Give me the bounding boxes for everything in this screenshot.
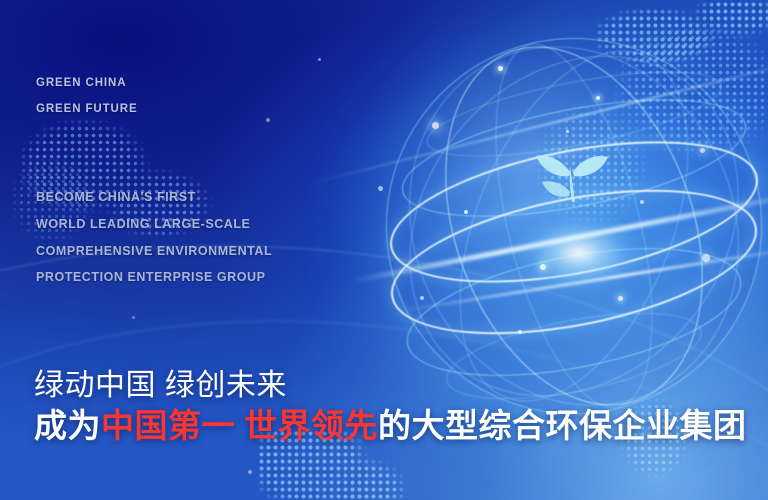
sprout-icon [526, 142, 622, 246]
sparkle-particle [420, 296, 424, 300]
sparkle-particle [464, 210, 468, 214]
mission-line-2: WORLD LEADING LARGE-SCALE [36, 211, 272, 238]
headline-highlight-a: 中国第一 [101, 407, 235, 444]
sparkle-particle [596, 96, 600, 100]
globe-outline [386, 38, 762, 414]
headline-prefix: 成为 [34, 407, 101, 444]
tagline-line-2: GREEN FUTURE [36, 96, 138, 122]
sparkle-particle [700, 148, 705, 153]
sparkle-particle [498, 66, 503, 71]
globe-latitude-ring-2 [393, 77, 755, 240]
headline-line-2: 成为中国第一世界领先的大型综合环保企业集团 [34, 406, 747, 446]
sparkle-particle [702, 254, 710, 262]
sparkle-particle [518, 330, 522, 334]
mission-line-4: PROTECTION ENTERPRISE GROUP [36, 264, 272, 291]
headline-suffix: 的大型综合环保企业集团 [378, 407, 747, 444]
sparkle-particle [318, 58, 321, 61]
dotted-world-map-top-right [596, 0, 768, 64]
globe-center-glow [514, 214, 644, 292]
globe-latitude-ring-4 [379, 164, 768, 361]
dotted-world-map-right [500, 20, 768, 270]
mission-statement: BECOME CHINA'S FIRST WORLD LEADING LARGE… [36, 184, 272, 291]
sparkle-particle [132, 316, 135, 319]
globe-latitude-ring-1 [421, 54, 728, 174]
headline-line-1: 绿动中国 绿创未来 [34, 366, 747, 406]
sparkle-particle [378, 186, 383, 191]
light-streak-diagonal [307, 57, 768, 185]
tagline-line-1: GREEN CHINA [36, 70, 138, 96]
tagline: GREEN CHINA GREEN FUTURE [36, 70, 138, 122]
globe-light-band-secondary [398, 242, 768, 312]
sparkle-particle [566, 130, 569, 133]
headline-highlight-b: 世界领先 [244, 407, 378, 444]
sparkle-particle [248, 470, 252, 474]
wireframe-globe [386, 38, 762, 414]
sparkle-particle [640, 200, 644, 204]
globe-longitude-ring-1 [465, 29, 684, 424]
globe-core-fill [386, 38, 762, 414]
sparkle-particle [540, 264, 546, 270]
globe-light-band-primary [350, 189, 768, 284]
sparkle-particle [266, 118, 270, 122]
hero-banner: GREEN CHINA GREEN FUTURE BECOME CHINA'S … [0, 0, 768, 500]
mission-line-1: BECOME CHINA'S FIRST [36, 184, 272, 211]
sparkle-particle [432, 122, 439, 129]
globe-latitude-ring-3 [379, 115, 768, 308]
page-title: 绿动中国 绿创未来 成为中国第一世界领先的大型综合环保企业集团 [34, 366, 747, 446]
mission-line-3: COMPREHENSIVE ENVIRONMENTAL [36, 238, 272, 265]
sparkle-particle [618, 296, 623, 301]
